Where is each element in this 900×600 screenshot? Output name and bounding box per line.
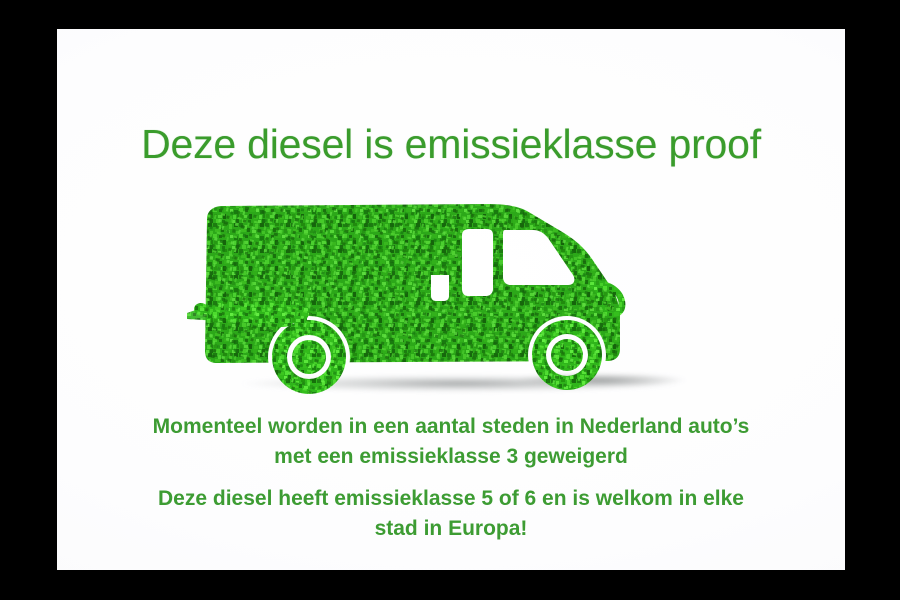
poster-frame: Deze diesel is emissieklasse proof <box>0 0 900 600</box>
body-line: stad in Europa! <box>57 514 845 544</box>
body-line: met een emissieklasse 3 geweigerd <box>57 442 845 472</box>
poster-canvas: Deze diesel is emissieklasse proof <box>57 29 845 570</box>
exhaust-plume <box>187 197 717 402</box>
van-svg <box>187 197 717 402</box>
van-illustration <box>187 197 717 402</box>
body-line: Momenteel worden in een aantal steden in… <box>57 412 845 442</box>
body-paragraph-current-situation: Momenteel worden in een aantal steden in… <box>57 412 845 472</box>
page-title: Deze diesel is emissieklasse proof <box>57 121 845 168</box>
body-line: Deze diesel heeft emissieklasse 5 of 6 e… <box>57 484 845 514</box>
body-paragraph-this-vehicle: Deze diesel heeft emissieklasse 5 of 6 e… <box>57 484 845 544</box>
